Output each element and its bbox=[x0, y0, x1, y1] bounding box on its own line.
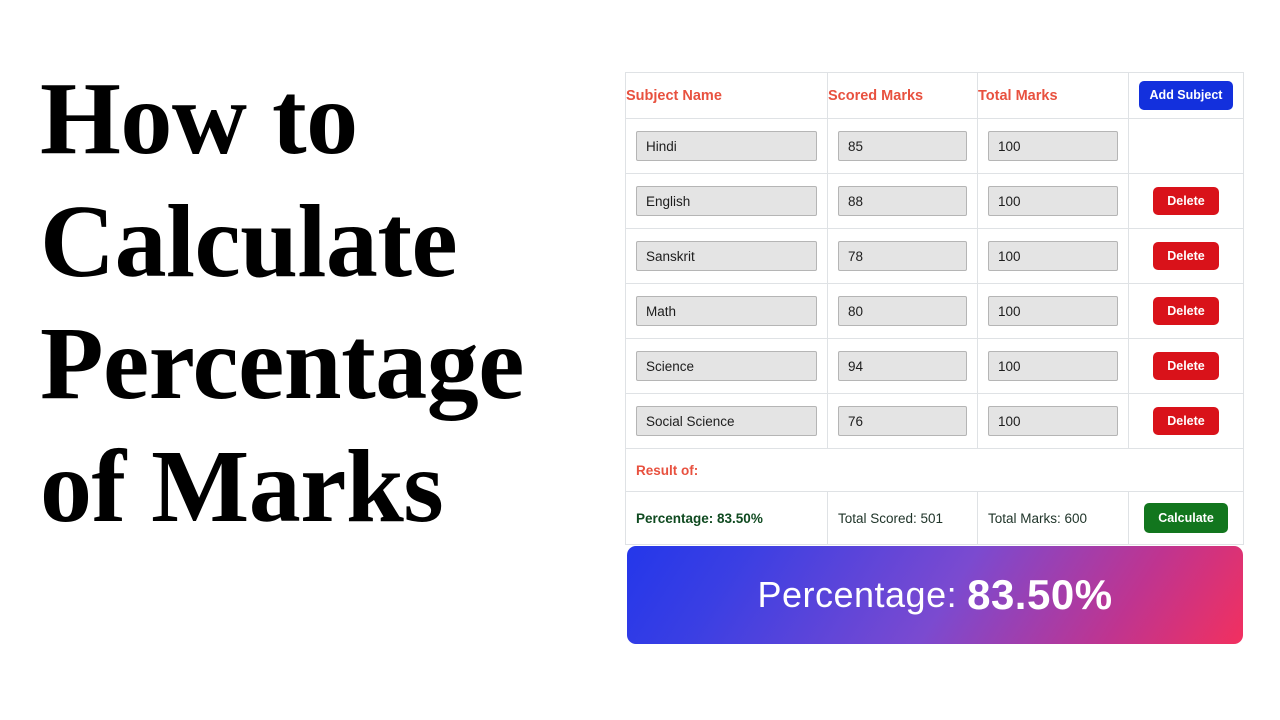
subject-name-input[interactable] bbox=[636, 241, 817, 271]
scored-marks-wrapper bbox=[828, 284, 977, 338]
subject-name-cell bbox=[626, 284, 828, 339]
banner-value: 83.50% bbox=[967, 571, 1112, 619]
subject-name-cell bbox=[626, 229, 828, 284]
subject-name-input[interactable] bbox=[636, 406, 817, 436]
subject-name-cell bbox=[626, 119, 828, 174]
delete-row-button[interactable]: Delete bbox=[1153, 187, 1219, 216]
subject-name-wrapper bbox=[626, 394, 827, 448]
scored-marks-cell bbox=[828, 119, 978, 174]
total-marks-cell bbox=[978, 339, 1129, 394]
scored-marks-input[interactable] bbox=[838, 296, 967, 326]
headline-line-2: Calculate bbox=[40, 181, 615, 304]
result-total-scored-text: Total Scored: 501 bbox=[828, 492, 977, 544]
subject-name-cell bbox=[626, 339, 828, 394]
row-action-cell: Delete bbox=[1129, 284, 1244, 339]
total-marks-wrapper bbox=[978, 339, 1128, 393]
total-marks-wrapper bbox=[978, 229, 1128, 283]
result-total-marks-cell: Total Marks: 600 bbox=[978, 492, 1129, 545]
row-action-cell: Delete bbox=[1129, 174, 1244, 229]
delete-row-button[interactable]: Delete bbox=[1153, 242, 1219, 271]
row-action-wrapper: Delete bbox=[1129, 229, 1243, 283]
column-header-total-marks: Total Marks bbox=[978, 73, 1129, 119]
table-row: Delete bbox=[626, 394, 1244, 449]
table-row: Delete bbox=[626, 174, 1244, 229]
row-action-wrapper: Delete bbox=[1129, 174, 1243, 228]
table-body: DeleteDeleteDeleteDeleteDelete bbox=[626, 119, 1244, 449]
row-action-cell: Delete bbox=[1129, 339, 1244, 394]
scored-marks-input[interactable] bbox=[838, 186, 967, 216]
headline-line-1: How to bbox=[40, 58, 615, 181]
scored-marks-wrapper bbox=[828, 174, 977, 228]
total-marks-cell bbox=[978, 174, 1129, 229]
headline-line-4: of Marks bbox=[40, 426, 615, 549]
delete-row-button[interactable]: Delete bbox=[1153, 352, 1219, 381]
total-marks-cell bbox=[978, 119, 1129, 174]
scored-marks-cell bbox=[828, 394, 978, 449]
scored-marks-cell bbox=[828, 229, 978, 284]
row-action-cell bbox=[1129, 119, 1244, 174]
banner-label: Percentage: bbox=[757, 574, 957, 616]
row-action-wrapper: Delete bbox=[1129, 394, 1243, 448]
subject-name-cell bbox=[626, 394, 828, 449]
table-footer: Result of: Percentage: 83.50% Total Scor… bbox=[626, 449, 1244, 545]
column-header-actions: Add Subject bbox=[1129, 73, 1244, 119]
total-marks-input[interactable] bbox=[988, 296, 1118, 326]
subject-name-input[interactable] bbox=[636, 351, 817, 381]
total-marks-input[interactable] bbox=[988, 406, 1118, 436]
subject-name-wrapper bbox=[626, 119, 827, 173]
delete-row-button[interactable]: Delete bbox=[1153, 407, 1219, 436]
result-label-row: Result of: bbox=[626, 449, 1244, 492]
total-marks-cell bbox=[978, 394, 1129, 449]
scored-marks-cell bbox=[828, 284, 978, 339]
total-marks-input[interactable] bbox=[988, 131, 1118, 161]
subject-name-wrapper bbox=[626, 229, 827, 283]
table-header-row: Subject Name Scored Marks Total Marks Ad… bbox=[626, 73, 1244, 119]
total-marks-wrapper bbox=[978, 174, 1128, 228]
table-header: Subject Name Scored Marks Total Marks Ad… bbox=[626, 73, 1244, 119]
column-header-subject-name: Subject Name bbox=[626, 73, 828, 119]
total-marks-cell bbox=[978, 284, 1129, 339]
calculate-button[interactable]: Calculate bbox=[1144, 503, 1228, 534]
result-label-cell: Result of: bbox=[626, 449, 1244, 492]
table-row bbox=[626, 119, 1244, 174]
delete-row-button[interactable]: Delete bbox=[1153, 297, 1219, 326]
row-action-wrapper bbox=[1129, 119, 1243, 173]
total-marks-input[interactable] bbox=[988, 186, 1118, 216]
total-marks-wrapper bbox=[978, 284, 1128, 338]
table-row: Delete bbox=[626, 229, 1244, 284]
percentage-result-banner: Percentage: 83.50% bbox=[627, 546, 1243, 644]
total-marks-wrapper bbox=[978, 119, 1128, 173]
scored-marks-input[interactable] bbox=[838, 406, 967, 436]
column-header-scored-marks: Scored Marks bbox=[828, 73, 978, 119]
total-marks-wrapper bbox=[978, 394, 1128, 448]
headline-line-3: Percentage bbox=[40, 303, 615, 426]
total-marks-cell bbox=[978, 229, 1129, 284]
subject-name-input[interactable] bbox=[636, 131, 817, 161]
row-action-wrapper: Delete bbox=[1129, 339, 1243, 393]
subject-name-wrapper bbox=[626, 284, 827, 338]
row-action-cell: Delete bbox=[1129, 394, 1244, 449]
marks-table: Subject Name Scored Marks Total Marks Ad… bbox=[625, 72, 1244, 545]
total-marks-input[interactable] bbox=[988, 351, 1118, 381]
subject-name-input[interactable] bbox=[636, 186, 817, 216]
result-percentage-text: Percentage: 83.50% bbox=[626, 492, 827, 544]
calculate-button-wrapper: Calculate bbox=[1129, 492, 1243, 544]
subject-name-cell bbox=[626, 174, 828, 229]
result-of-label: Result of: bbox=[626, 449, 1243, 491]
scored-marks-input[interactable] bbox=[838, 131, 967, 161]
scored-marks-cell bbox=[828, 174, 978, 229]
page-title: How to Calculate Percentage of Marks bbox=[40, 58, 615, 658]
row-action-wrapper: Delete bbox=[1129, 284, 1243, 338]
scored-marks-input[interactable] bbox=[838, 241, 967, 271]
scored-marks-wrapper bbox=[828, 394, 977, 448]
marks-calculator-panel: Subject Name Scored Marks Total Marks Ad… bbox=[625, 72, 1243, 545]
scored-marks-wrapper bbox=[828, 229, 977, 283]
result-total-scored-cell: Total Scored: 501 bbox=[828, 492, 978, 545]
scored-marks-input[interactable] bbox=[838, 351, 967, 381]
total-marks-input[interactable] bbox=[988, 241, 1118, 271]
scored-marks-cell bbox=[828, 339, 978, 394]
subject-name-input[interactable] bbox=[636, 296, 817, 326]
result-total-marks-text: Total Marks: 600 bbox=[978, 492, 1128, 544]
scored-marks-wrapper bbox=[828, 339, 977, 393]
add-subject-button[interactable]: Add Subject bbox=[1139, 81, 1234, 110]
subject-name-wrapper bbox=[626, 339, 827, 393]
table-row: Delete bbox=[626, 284, 1244, 339]
scored-marks-wrapper bbox=[828, 119, 977, 173]
result-percentage-cell: Percentage: 83.50% bbox=[626, 492, 828, 545]
table-row: Delete bbox=[626, 339, 1244, 394]
result-action-cell: Calculate bbox=[1129, 492, 1244, 545]
subject-name-wrapper bbox=[626, 174, 827, 228]
result-summary-row: Percentage: 83.50% Total Scored: 501 Tot… bbox=[626, 492, 1244, 545]
row-action-cell: Delete bbox=[1129, 229, 1244, 284]
